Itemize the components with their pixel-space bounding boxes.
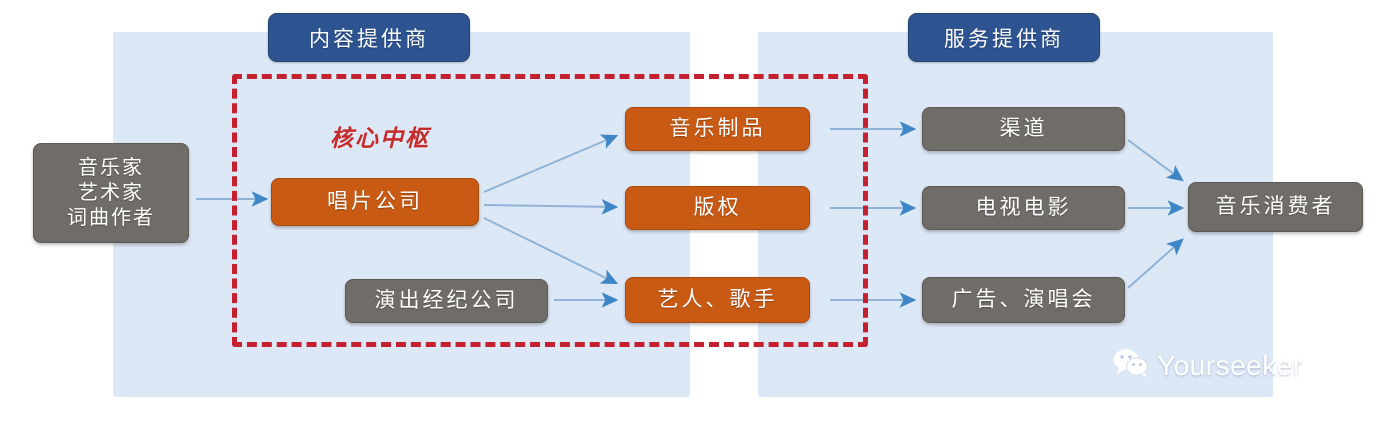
- node-performance-agency-text: 演出经纪公司: [375, 288, 519, 314]
- node-performers[interactable]: 艺人、歌手: [625, 277, 810, 323]
- node-music-consumers-text: 音乐消费者: [1216, 194, 1336, 220]
- node-tv-film-text: 电视电影: [976, 195, 1072, 221]
- diagram-canvas: 内容提供商 服务提供商 核心中枢 音乐家 艺术家 词曲作者 唱片公司 演出经纪公…: [0, 0, 1397, 427]
- node-tv-film[interactable]: 电视电影: [922, 186, 1125, 230]
- node-record-label[interactable]: 唱片公司: [271, 178, 479, 226]
- watermark: Yourseeker: [1113, 348, 1303, 383]
- group-header-content-provider[interactable]: 内容提供商: [268, 13, 470, 62]
- node-music-products-text: 音乐制品: [670, 116, 766, 142]
- group-header-service-provider-label: 服务提供商: [944, 23, 1064, 53]
- node-record-label-text: 唱片公司: [327, 189, 423, 215]
- node-channels-text: 渠道: [1000, 116, 1048, 142]
- node-creators-line-2: 艺术家: [78, 181, 144, 206]
- node-copyright[interactable]: 版权: [625, 186, 810, 230]
- group-header-service-provider[interactable]: 服务提供商: [908, 13, 1100, 62]
- watermark-text: Yourseeker: [1157, 350, 1303, 382]
- node-creators-line-1: 音乐家: [78, 156, 144, 181]
- node-performance-agency[interactable]: 演出经纪公司: [345, 279, 548, 323]
- core-hub-caption: 核心中枢: [330, 119, 430, 153]
- wechat-icon: [1113, 348, 1149, 383]
- node-creators-line-3: 词曲作者: [67, 206, 155, 231]
- node-ads-concerts-text: 广告、演唱会: [952, 287, 1096, 313]
- node-music-products[interactable]: 音乐制品: [625, 107, 810, 151]
- node-music-consumers[interactable]: 音乐消费者: [1188, 182, 1363, 232]
- node-channels[interactable]: 渠道: [922, 107, 1125, 151]
- node-performers-text: 艺人、歌手: [658, 287, 778, 313]
- node-copyright-text: 版权: [694, 195, 742, 221]
- group-header-content-provider-label: 内容提供商: [309, 23, 429, 53]
- node-ads-concerts[interactable]: 广告、演唱会: [922, 277, 1125, 323]
- node-creators[interactable]: 音乐家 艺术家 词曲作者: [33, 143, 189, 243]
